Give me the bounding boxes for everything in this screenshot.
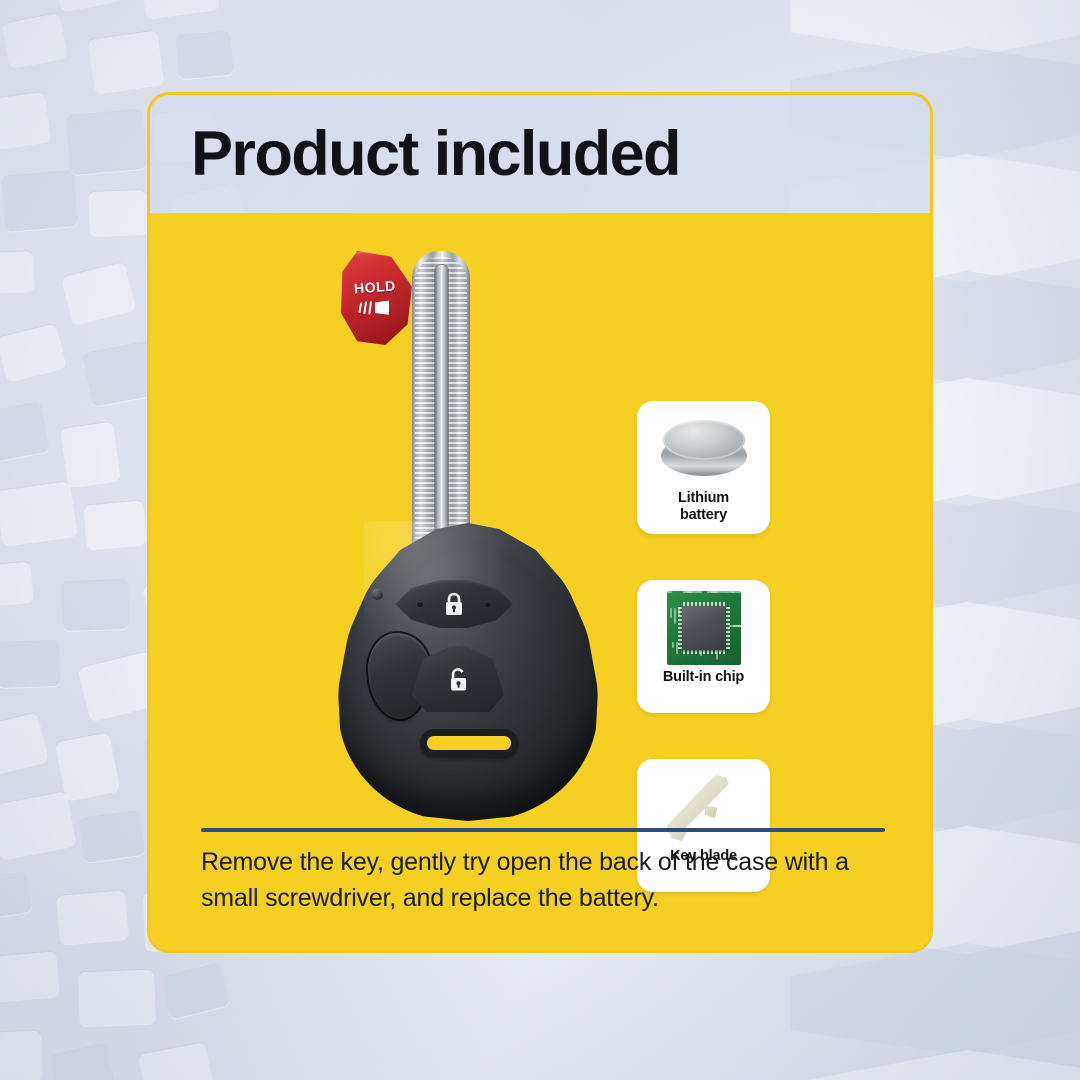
thumbnail-caption: Built-in chip	[663, 669, 744, 686]
card-body: HOLD	[150, 213, 930, 950]
lock-button-dot-left	[417, 601, 423, 607]
siren-horn-icon	[358, 299, 392, 317]
padlock-closed-icon	[443, 591, 465, 617]
caption-line-2: battery	[680, 507, 727, 523]
caption-line-1: Lithium	[678, 490, 729, 506]
keyring-slot	[420, 729, 518, 757]
thumbnail-lithium-battery[interactable]: Lithium battery	[637, 401, 770, 534]
thumbnail-caption: Lithium battery	[678, 490, 729, 523]
transponder-chip-icon	[667, 589, 741, 667]
screw-dot-icon	[372, 589, 383, 600]
page-title: Product included	[191, 123, 680, 186]
key-fob-illustration: HOLD	[338, 251, 598, 821]
included-items-list: Lithium battery	[637, 401, 770, 892]
instruction-caption: Remove the key, gently try open the back…	[201, 845, 891, 916]
thumbnail-built-in-chip[interactable]: Built-in chip	[637, 580, 770, 713]
coin-cell-battery-icon	[661, 410, 747, 488]
lock-button-dot-right	[485, 601, 491, 607]
card-header: Product included	[150, 95, 930, 213]
key-blade-icon	[661, 768, 747, 846]
footer-divider	[201, 828, 885, 832]
product-card: Product included	[147, 92, 933, 953]
key-blade-metal	[412, 251, 470, 569]
panic-button-label: HOLD	[354, 278, 397, 297]
padlock-open-icon	[447, 666, 469, 693]
infographic-stage: Product included	[0, 0, 1080, 1080]
panic-button[interactable]: HOLD	[338, 251, 412, 345]
caption-line-1: Built-in chip	[663, 669, 744, 685]
